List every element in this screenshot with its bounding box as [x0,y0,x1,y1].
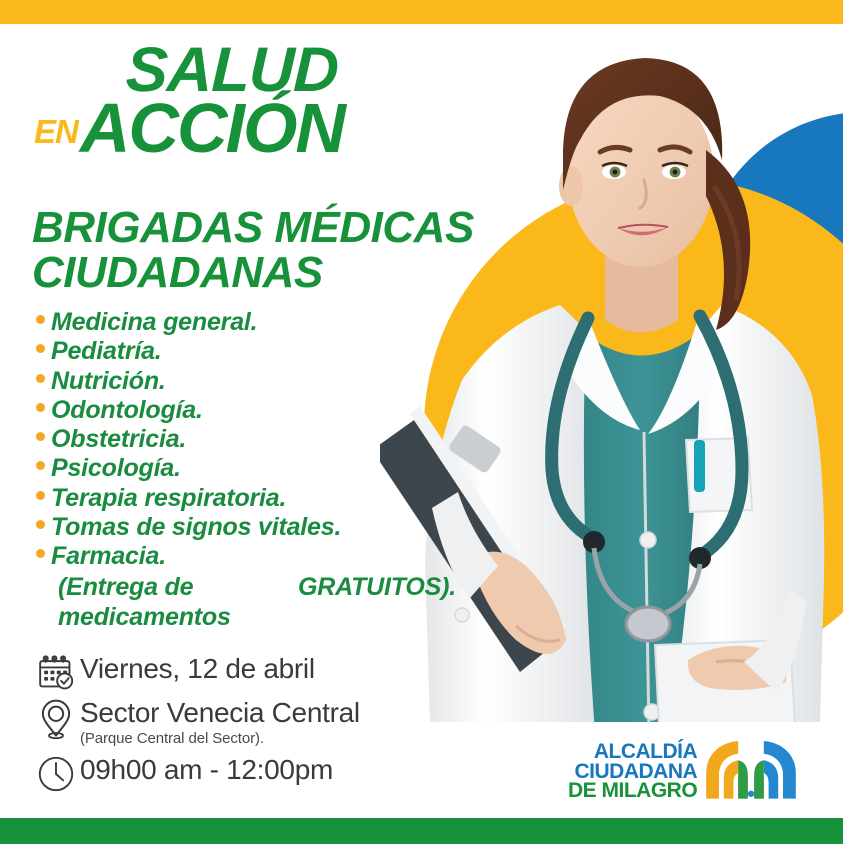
bullet-dot-icon [36,374,45,383]
bullet-dot-icon [36,344,45,353]
event-time: 09h00 am - 12:00pm [80,753,333,786]
headline-accion-row: EN ACCIÓN [34,96,464,160]
service-label: Tomas de signos vitales. [51,513,341,542]
event-place-detail: (Parque Central del Sector). [80,730,360,747]
event-info-block: Viernes, 12 de abril Sector Venecia Cent… [32,652,452,799]
health-campaign-poster: SALUD EN ACCIÓN BRIGADAS MÉDICAS CIUDADA… [0,0,843,844]
logo-line-2: CIUDADANA [568,762,697,782]
calendar-check-icon [32,652,80,692]
yellow-circle-shape [424,178,843,678]
services-list: Medicina general. Pediatría. Nutrición. … [36,308,456,632]
service-label: Farmacia. [51,542,166,571]
note-suffix: ). [441,573,456,602]
location-pin-icon [32,696,80,740]
headline-salud: SALUD [125,42,465,100]
logo-emblem-icon [703,736,799,807]
service-label: Psicología. [51,454,181,483]
list-item: Nutrición. [36,367,456,396]
logo-line-1: ALCALDÍA [568,742,697,762]
bullet-dot-icon [36,403,45,412]
info-row-place: Sector Venecia Central (Parque Central d… [32,696,452,747]
list-item: Terapia respiratoria. [36,484,456,513]
bullet-dot-icon [36,432,45,441]
list-item: Farmacia. [36,542,456,571]
list-item: Odontología. [36,396,456,425]
event-place: Sector Venecia Central [80,696,360,729]
service-label: Odontología. [51,396,203,425]
services-note: (Entrega de medicamentos GRATUITOS). [58,573,456,632]
bullet-dot-icon [36,461,45,470]
service-label: Pediatría. [51,337,162,366]
service-label: Terapia respiratoria. [51,484,286,513]
list-item: Obstetricia. [36,425,456,454]
logo-line-3: DE MILAGRO [568,781,697,801]
info-row-time: 09h00 am - 12:00pm [32,753,452,793]
alcaldia-logo: ALCALDÍA CIUDADANA DE MILAGRO [568,736,799,807]
list-item: Medicina general. [36,308,456,337]
headline-accion: ACCIÓN [80,96,344,160]
bottom-green-bar [0,818,843,844]
logo-wordmark: ALCALDÍA CIUDADANA DE MILAGRO [568,742,697,802]
note-emphasis: GRATUITOS [298,573,441,602]
service-label: Medicina general. [51,308,257,337]
top-yellow-bar [0,0,843,24]
note-prefix: (Entrega de medicamentos [58,573,298,632]
poster-content: SALUD EN ACCIÓN BRIGADAS MÉDICAS CIUDADA… [0,0,470,844]
bullet-dot-icon [36,491,45,500]
list-item: Psicología. [36,454,456,483]
bullet-dot-icon [36,520,45,529]
service-label: Nutrición. [51,367,166,396]
bullet-dot-icon [36,315,45,324]
list-item: Pediatría. [36,337,456,366]
list-item: Tomas de signos vitales. [36,513,456,542]
headline-en: EN [34,115,78,160]
poster-subtitle: BRIGADAS MÉDICAS CIUDADANAS [32,205,482,296]
clock-icon [32,753,80,793]
event-date: Viernes, 12 de abril [80,652,315,685]
service-label: Obstetricia. [51,425,186,454]
bullet-dot-icon [36,549,45,558]
info-row-date: Viernes, 12 de abril [32,652,452,692]
headline-block: SALUD EN ACCIÓN [34,42,464,160]
